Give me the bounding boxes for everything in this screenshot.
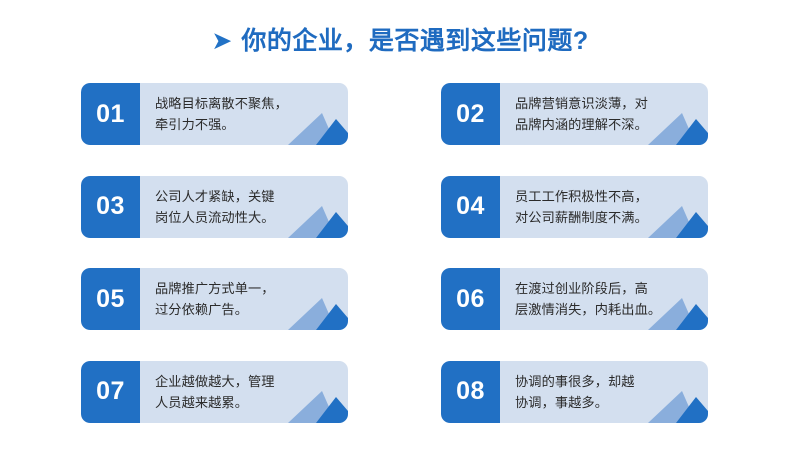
problem-card-number: 04 (441, 176, 500, 238)
problem-card[interactable]: 03公司人才紧缺，关键岗位人员流动性大。 (81, 176, 348, 238)
problem-card-text-line-2: 牵引力不强。 (155, 114, 288, 135)
mountain-corner-icon (636, 389, 708, 423)
problem-card-body: 品牌推广方式单一，过分依赖广告。 (140, 268, 348, 330)
problem-card-text-line-1: 战略目标离散不聚焦， (155, 93, 288, 114)
problem-card-body: 公司人才紧缺，关键岗位人员流动性大。 (140, 176, 348, 238)
problem-card-text-line-1: 企业越做越大，管理 (155, 371, 275, 392)
mountain-corner-icon (276, 296, 348, 330)
mountain-corner-icon (276, 389, 348, 423)
problem-card[interactable]: 02品牌营销意识淡薄，对品牌内涵的理解不深。 (441, 83, 708, 145)
problem-card[interactable]: 01战略目标离散不聚焦，牵引力不强。 (81, 83, 348, 145)
problem-card-text: 战略目标离散不聚焦，牵引力不强。 (155, 93, 288, 135)
problem-card-text: 公司人才紧缺，关键岗位人员流动性大。 (155, 186, 275, 228)
problem-card-text-line-2: 品牌内涵的理解不深。 (515, 114, 648, 135)
problem-card-text-line-2: 人员越来越累。 (155, 392, 275, 413)
problem-card[interactable]: 06在渡过创业阶段后，高层激情消失，内耗出血。 (441, 268, 708, 330)
problem-card[interactable]: 05品牌推广方式单一，过分依赖广告。 (81, 268, 348, 330)
problem-card-text: 品牌营销意识淡薄，对品牌内涵的理解不深。 (515, 93, 648, 135)
problem-card-text-line-2: 层激情消失，内耗出血。 (515, 299, 661, 320)
problem-card-text: 在渡过创业阶段后，高层激情消失，内耗出血。 (515, 278, 661, 320)
problem-card-body: 协调的事很多，却越协调，事越多。 (500, 361, 708, 423)
problem-card-text-line-2: 协调，事越多。 (515, 392, 635, 413)
problem-card-grid: 01战略目标离散不聚焦，牵引力不强。02品牌营销意识淡薄，对品牌内涵的理解不深。… (0, 0, 800, 450)
problem-card-text-line-2: 对公司薪酬制度不满。 (515, 207, 648, 228)
problem-card-text-line-1: 公司人才紧缺，关键 (155, 186, 275, 207)
problem-card-body: 品牌营销意识淡薄，对品牌内涵的理解不深。 (500, 83, 708, 145)
problem-card-body: 战略目标离散不聚焦，牵引力不强。 (140, 83, 348, 145)
problem-card-text: 员工工作积极性不高，对公司薪酬制度不满。 (515, 186, 648, 228)
problem-card-body: 员工工作积极性不高，对公司薪酬制度不满。 (500, 176, 708, 238)
mountain-corner-icon (276, 204, 348, 238)
problem-card-text-line-1: 品牌营销意识淡薄，对 (515, 93, 648, 114)
problem-card-number: 05 (81, 268, 140, 330)
problem-card-text: 企业越做越大，管理人员越来越累。 (155, 371, 275, 413)
problem-card-text-line-1: 员工工作积极性不高， (515, 186, 648, 207)
problem-card-body: 在渡过创业阶段后，高层激情消失，内耗出血。 (500, 268, 708, 330)
problem-card-number: 03 (81, 176, 140, 238)
problem-card-text-line-2: 过分依赖广告。 (155, 299, 275, 320)
problem-card-number: 06 (441, 268, 500, 330)
problem-card-number: 02 (441, 83, 500, 145)
problem-card-text: 协调的事很多，却越协调，事越多。 (515, 371, 635, 413)
problem-card-number: 08 (441, 361, 500, 423)
problem-card-number: 07 (81, 361, 140, 423)
problem-card[interactable]: 04员工工作积极性不高，对公司薪酬制度不满。 (441, 176, 708, 238)
problem-card-text-line-1: 协调的事很多，却越 (515, 371, 635, 392)
problem-card[interactable]: 08协调的事很多，却越协调，事越多。 (441, 361, 708, 423)
problem-card-text-line-2: 岗位人员流动性大。 (155, 207, 275, 228)
problem-card-body: 企业越做越大，管理人员越来越累。 (140, 361, 348, 423)
problem-card[interactable]: 07企业越做越大，管理人员越来越累。 (81, 361, 348, 423)
problem-card-text-line-1: 品牌推广方式单一， (155, 278, 275, 299)
problem-card-text: 品牌推广方式单一，过分依赖广告。 (155, 278, 275, 320)
problem-card-number: 01 (81, 83, 140, 145)
problem-card-text-line-1: 在渡过创业阶段后，高 (515, 278, 661, 299)
